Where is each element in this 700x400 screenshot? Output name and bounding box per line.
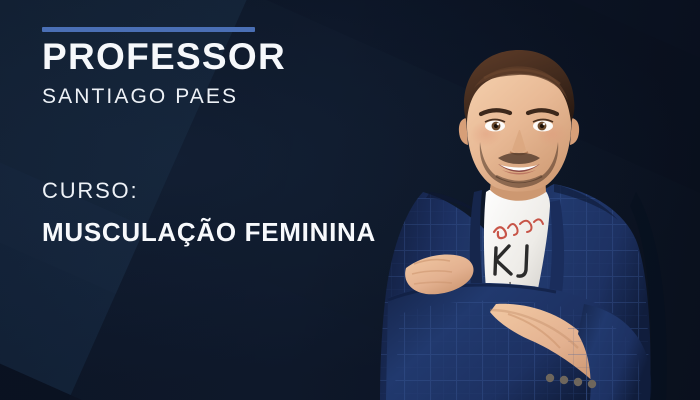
instructor-name: SANTIAGO PAES <box>42 86 238 107</box>
page-title: PROFESSOR <box>42 38 286 75</box>
course-label: CURSO: <box>42 180 138 202</box>
course-name: MUSCULAÇÃO FEMININA <box>42 219 376 245</box>
head <box>459 50 579 192</box>
instructor-portrait <box>378 42 700 400</box>
accent-rule <box>42 27 255 32</box>
course-promo-banner: PROFESSOR SANTIAGO PAES CURSO: MUSCULAÇÃ… <box>0 0 700 400</box>
